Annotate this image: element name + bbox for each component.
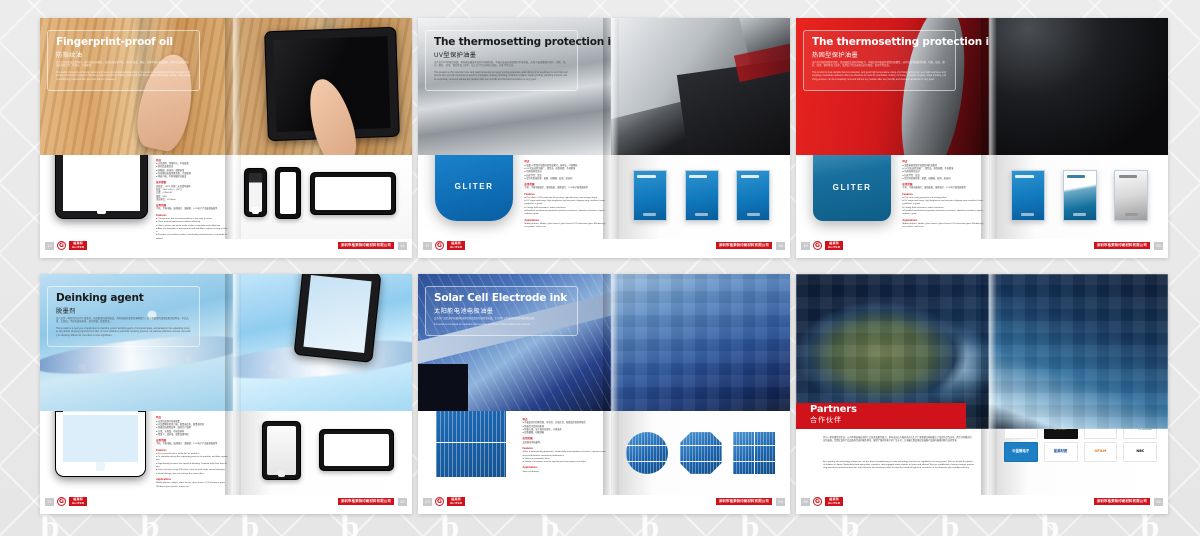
page-left: The thermosetting protection ink UV型保护油墨… [418,18,611,239]
copy-heading: 特点 [156,159,228,163]
sheet-footer: 17 G 格莱特GLITER 深圳市格莱特印刷材料有限公司 18 [418,239,790,252]
hero-art: Partners 合作伙伴 [796,274,989,429]
page-number-left: 21 [45,498,54,506]
title-cn: UV型保护油墨 [434,50,569,59]
title-block: The thermosetting protection ink UV型保护油墨… [425,30,578,91]
copy-line: ● 优异的机械性能：耐磨、耐酸碱、耐刮、耐溶剂 [524,178,605,181]
hero-art-right [611,274,790,411]
title-en: The thermosetting protection ink [812,37,947,48]
partners-title-en: Partners [810,405,966,416]
page-number-left: 19 [801,242,810,250]
page-left: The thermosetting protection ink 热固型保护油墨… [796,18,989,239]
hero-art-right [233,274,412,411]
copy-line: ● 线条细腻，印刷清晰 [522,432,605,435]
solar-cell-octagon [680,432,722,474]
small-tablet-mockup [275,167,302,219]
tablet-portrait-mockup [262,421,301,480]
brand-tag: 格莱特GLITER [447,497,465,507]
partner-logo: 中显微电子 [1004,442,1038,462]
intro-cn: 该产品为UV型保护油墨，具有极高硬度和良好的印刷性能，干燥后表面抗刮耐磨且不易脱… [434,62,569,69]
sheet-footer: 19 G 格莱特GLITER 深圳市格莱特印刷材料有限公司 20 [796,239,1168,252]
copy-block: 特点● 无需加温即可快速脱墨● 对油墨颗粒剥离力强，脱墨速度快，脱墨更彻底● 显… [156,414,228,488]
solar-cell-round [626,432,668,474]
copy-heading: 应用范围 [522,437,605,441]
title-en: Solar Cell Electrode ink [434,293,569,304]
product-card-lineup [611,155,790,239]
copy-heading: Applications [522,466,605,470]
solar-cell-square [733,432,775,474]
spread-deinking-agent[interactable]: Deinking agent 脱墨剂 该产品是一种新型的应用于脱墨剂，加快脱墨的… [40,274,412,514]
spec-area: 特点● 无需加温即可快速脱墨● 对油墨颗粒剥离力强，脱墨速度快，脱墨更彻底● 显… [40,411,233,495]
product-card [633,170,667,220]
page-right [233,274,412,495]
tablet-mockup [55,411,146,477]
partner-logo: 欧菲光学 [1044,429,1078,439]
copy-line: 涂层厚度：15-30nm [156,199,228,202]
solar-cell-large [435,411,507,478]
copy-line: ● 优异的机械性能：耐磨、耐酸碱、耐刮、耐溶剂 [902,178,983,181]
partner-logo: OFILM [1084,442,1118,462]
dark-corner-shape [418,364,468,411]
copy-heading: 特点 [156,416,228,420]
product-canister: GLITER [813,155,890,221]
copy-line: ● UV range and range, high toughness and… [902,200,983,207]
copy-line: ● UV range and range, high toughness and… [524,200,605,207]
copy-heading: 技术参数 [156,181,228,185]
product-card [685,170,719,220]
page-left: Solar Cell Electrode ink 太阳能电池电极油墨 该系列产品… [418,274,611,495]
page-number-right: 18 [776,242,785,250]
solar-cell-shapes [611,411,790,495]
title-cn: 热固型保护油墨 [812,50,947,59]
page-number-left: 13 [45,242,54,250]
partners-intro-cn: 作为一家全国性的企业，公司不断加强自身的工艺技术及服务能力，多年来先后与国内外各… [823,437,974,444]
product-bottle: GLITER [435,155,512,220]
copy-line: ● Has a good printing properties, conduc… [522,451,605,458]
partner-logo: 星源材质 [1044,442,1078,462]
company-name-tag: 深圳市格莱特印刷材料有限公司 [337,241,395,250]
company-name-tag: 深圳市格莱特印刷材料有限公司 [715,497,773,506]
device-lineup [233,411,412,495]
copy-heading: Features [156,449,228,453]
copy-line: ● 附着力强，不影响触控灵敏度 [156,176,228,179]
hero-art: The thermosetting protection ink 热固型保护油墨… [796,18,989,155]
copy-line: ● Excellent mechanical properties and we… [902,210,983,217]
brand-tag: 格莱特GLITER [825,241,843,251]
spec-area: GLITER 特点● 油墨UV型保护油墨的固化效果好，效率高，节能降耗● UV光… [418,155,611,239]
hero-art: Solar Cell Electrode ink 太阳能电池电极油墨 该系列产品… [418,274,611,411]
copy-line: ● Excellent mechanical properties and we… [524,210,605,217]
partner-logo: A [1084,429,1118,439]
hero-art-right [611,18,790,155]
partner-logo: CSG 南玻集团 [1123,429,1157,439]
company-logo-icon: G [435,241,444,250]
intro-cn: 该系列产品是由导电银粉和热塑性树脂及有机溶剂等组成，专门用于太阳能电池板的电极印… [434,318,569,322]
hero-art: Deinking agent 脱墨剂 该产品是一种新型的应用于脱墨剂，加快脱墨的… [40,274,233,411]
wide-tablet-mockup [310,172,396,216]
copy-line: 手机、平板电脑、玻璃镜片、触摸屏、LCD电子产品玻璃面板等 [156,208,228,211]
intro-en: this series is composed of conductive si… [434,324,569,328]
device-lineup [233,155,412,239]
canister-brand-label: GLITER [813,183,890,192]
copy-line: 手机、平板电脑镜片、玻璃面板、玻璃镜片、LCD电子玻璃面板等 [902,187,983,190]
copy-line: Mobile phones, tablets, glass lenses, gl… [156,482,228,489]
pixelation-overlay-right [989,274,1168,429]
company-name-tag: 深圳市格莱特印刷材料有限公司 [337,497,395,506]
company-logo-icon: G [813,241,822,250]
product-card [1114,170,1148,220]
company-logo-icon: G [57,241,66,250]
intro-en: This product is UV protection inks, with… [434,72,569,83]
product-card-lineup [989,155,1168,239]
page-right [233,18,412,239]
copy-block: 特点● 油墨热固型保护油墨的固化效果好● UV光油适用范围广，韧性高，耐刮耐磨，… [902,158,983,229]
copy-heading: 特点 [524,160,605,164]
page-right [989,18,1168,239]
partner-logo-grid: 智慧光电micogateINTERNATIONALJITRUSTLAPPLUX … [1004,429,1158,485]
copy-heading: Features [524,193,605,197]
page-right [611,274,790,495]
title-en: The thermosetting protection ink [434,37,569,48]
page-left: Deinking agent 脱墨剂 该产品是一种新型的应用于脱墨剂，加快脱墨的… [40,274,233,495]
spec-area: GLITER 特点● 油墨热固型保护油墨的固化效果好● UV光油适用范围广，韧性… [796,155,989,239]
title-cn: 脱墨剂 [56,306,191,315]
page-number-right: 24 [776,498,785,506]
sheet-footer: 23 G 格莱特GLITER 深圳市格莱特印刷材料有限公司 24 [418,495,790,508]
company-logo-icon: G [435,497,444,506]
copy-line: ● To stimulate during the separating pro… [156,456,228,463]
partners-banner: Partners 合作伙伴 [796,403,966,429]
spread-fingerprint-proof-oil[interactable]: Fingerprint-proof oil 防指纹油 该产品为防指纹油墨涂料，具… [40,18,412,258]
partner-logo: NBC [1123,442,1157,462]
tilted-tablet-mockup [293,274,381,363]
copy-line: ● Simple, convenient, easy to operate an… [522,461,605,464]
page-number-left: 23 [423,498,432,506]
product-card [1063,170,1097,220]
page-number-right: 14 [398,242,407,250]
pixelation-overlay [611,274,790,411]
copy-line: ● Small dosage, you can achieve the same… [156,473,228,476]
sheet-footer: 13 G 格莱特GLITER 深圳市格莱特印刷材料有限公司 14 [40,239,412,252]
brand-tag: 格莱特GLITER [69,241,87,251]
copy-line: Mobile phones, tablets, glass lenses, gl… [902,223,983,230]
product-card [736,170,770,220]
copy-block: 特点● 油墨UV型保护油墨的固化效果好，效率高，节能降耗● UV光油适用范围广，… [524,158,605,229]
hero-art: Fingerprint-proof oil 防指纹油 该产品为防指纹油墨涂料，具… [40,18,233,155]
intro-en: This series of products is the skin text… [56,72,191,83]
intro-cn: 该产品是一种新型的应用于脱墨剂，加快脱墨的剥离速度，具有极强的渗透和溶解能力，对… [56,318,191,325]
partners-copy-area: 作为一家全国性的企业，公司不断加强自身的工艺技术及服务能力，多年来先后与国内外各… [796,429,989,495]
sheet-footer: 25 G 格莱特GLITER 深圳市格莱特印刷材料有限公司 26 [796,495,1168,508]
tablet-landscape-mockup [319,429,394,471]
brand-tag: 格莱特GLITER [825,497,843,507]
hero-art-right [989,274,1168,429]
company-logo-icon: G [57,497,66,506]
partners-intro-en: As a printing ink technology enterprises… [823,461,974,471]
page-number-right: 26 [1154,498,1163,506]
phone-mockup [244,168,267,217]
page-left: Fingerprint-proof oil 防指纹油 该产品为防指纹油墨涂料，具… [40,18,233,239]
copy-line: 手机、平板电脑镜片、玻璃面板、玻璃镜片、LCD电子玻璃面板等 [524,187,605,190]
page-right: 智慧光电micogateINTERNATIONALJITRUSTLAPPLUX … [989,274,1168,495]
spread-uv-protection-ink[interactable]: The thermosetting protection ink UV型保护油墨… [418,18,790,258]
intro-cn: 该产品为热固型保护油墨，具高硬度及良好的附着力，干燥后具有极高的韧性和耐磨性，适… [812,62,947,69]
title-block: The thermosetting protection ink 热固型保护油墨… [803,30,956,91]
spec-area: 特点● 有着良好的印刷性能、导电性、抗氧化性、耐腐蚀性能和焊接性● 附着性不受环… [418,411,611,495]
copy-heading: Features [156,214,228,218]
hero-art-right [989,18,1168,155]
partner-logo-area: 智慧光电micogateINTERNATIONALJITRUSTLAPPLUX … [989,429,1168,495]
spec-area: 特点● 无色透明，涂膜均匀，不易脱落● 防指纹效果优良● 耐酸碱、耐溶剂、耐磨耐… [40,155,233,239]
product-card [1011,170,1045,220]
bottle-brand-label: GLITER [435,182,512,191]
copy-heading: 特点 [902,160,983,164]
copy-line: Solar cell battery. [522,471,605,474]
intro-en: This product is heat-durable inks for pr… [812,72,947,83]
copy-heading: Applications [902,219,983,223]
copy-block: 特点● 无色透明，涂膜均匀，不易脱落● 防指纹效果优良● 耐酸碱、耐溶剂、耐磨耐… [156,157,228,239]
brand-tag: 格莱特GLITER [447,241,465,251]
title-block: Deinking agent 脱墨剂 该产品是一种新型的应用于脱墨剂，加快脱墨的… [47,286,200,347]
spread-thermosetting-protection-ink[interactable]: The thermosetting protection ink 热固型保护油墨… [796,18,1168,258]
company-logo-icon: G [813,497,822,506]
copy-line: 手机、平板电脑、玻璃镜片、触摸屏、LCD电子产品玻璃面板等 [156,443,228,446]
company-name-tag: 深圳市格莱特印刷材料有限公司 [1093,497,1151,506]
page-right [611,18,790,239]
page-left: Partners 合作伙伴 作为一家全国性的企业，公司不断加强自身的工艺技术及服… [796,274,989,495]
intro-cn: 该产品为防指纹油墨涂料，具有优良的耐磨性、耐刮性和耐化学性，可用于玻璃、塑胶、金… [56,62,191,69]
title-en: Deinking agent [56,293,191,304]
hero-art-right [233,18,412,155]
page-number-left: 17 [423,242,432,250]
spread-partners[interactable]: Partners 合作伙伴 作为一家全国性的企业，公司不断加强自身的工艺技术及服… [796,274,1168,514]
intro-en: This product is a new type of applicatio… [56,328,191,339]
hero-art: The thermosetting protection ink UV型保护油墨… [418,18,611,155]
tablet-mockup [55,155,148,219]
copy-line: ● 用量少，成本低，脱墨效果明显 [156,434,228,437]
brand-tag: 格莱特GLITER [69,497,87,507]
title-block: Solar Cell Electrode ink 太阳能电池电极油墨 该系列产品… [425,286,578,336]
spread-solar-cell-electrode-ink[interactable]: Solar Cell Electrode ink 太阳能电池电极油墨 该系列产品… [418,274,790,514]
copy-line: Mobile phones, tablets, glass lenses, gl… [524,223,605,230]
brochure-sheet-grid: Fingerprint-proof oil 防指纹油 该产品为防指纹油墨涂料，具… [0,0,1200,536]
title-cn: 太阳能电池电极油墨 [434,306,569,315]
partners-title-cn: 合作伙伴 [810,415,966,425]
copy-line: 太阳能电池电极等。 [522,442,605,445]
copy-heading: Features [902,193,983,197]
page-number-right: 22 [398,498,407,506]
page-number-right: 20 [1154,242,1163,250]
title-en: Fingerprint-proof oil [56,37,191,48]
copy-heading: Applications [524,219,605,223]
page-number-left: 25 [801,498,810,506]
copy-block: 特点● 有着良好的印刷性能、导电性、抗氧化性、耐腐蚀性能和焊接性● 附着性不受环… [522,416,605,474]
partner-logo: KENVO [1004,429,1038,439]
company-name-tag: 深圳市格莱特印刷材料有限公司 [1093,241,1151,250]
title-cn: 防指纹油 [56,50,191,59]
sheet-footer: 21 G 格莱特GLITER 深圳市格莱特印刷材料有限公司 22 [40,495,412,508]
company-name-tag: 深圳市格莱特印刷材料有限公司 [715,241,773,250]
title-block: Fingerprint-proof oil 防指纹油 该产品为防指纹油墨涂料，具… [47,30,200,91]
